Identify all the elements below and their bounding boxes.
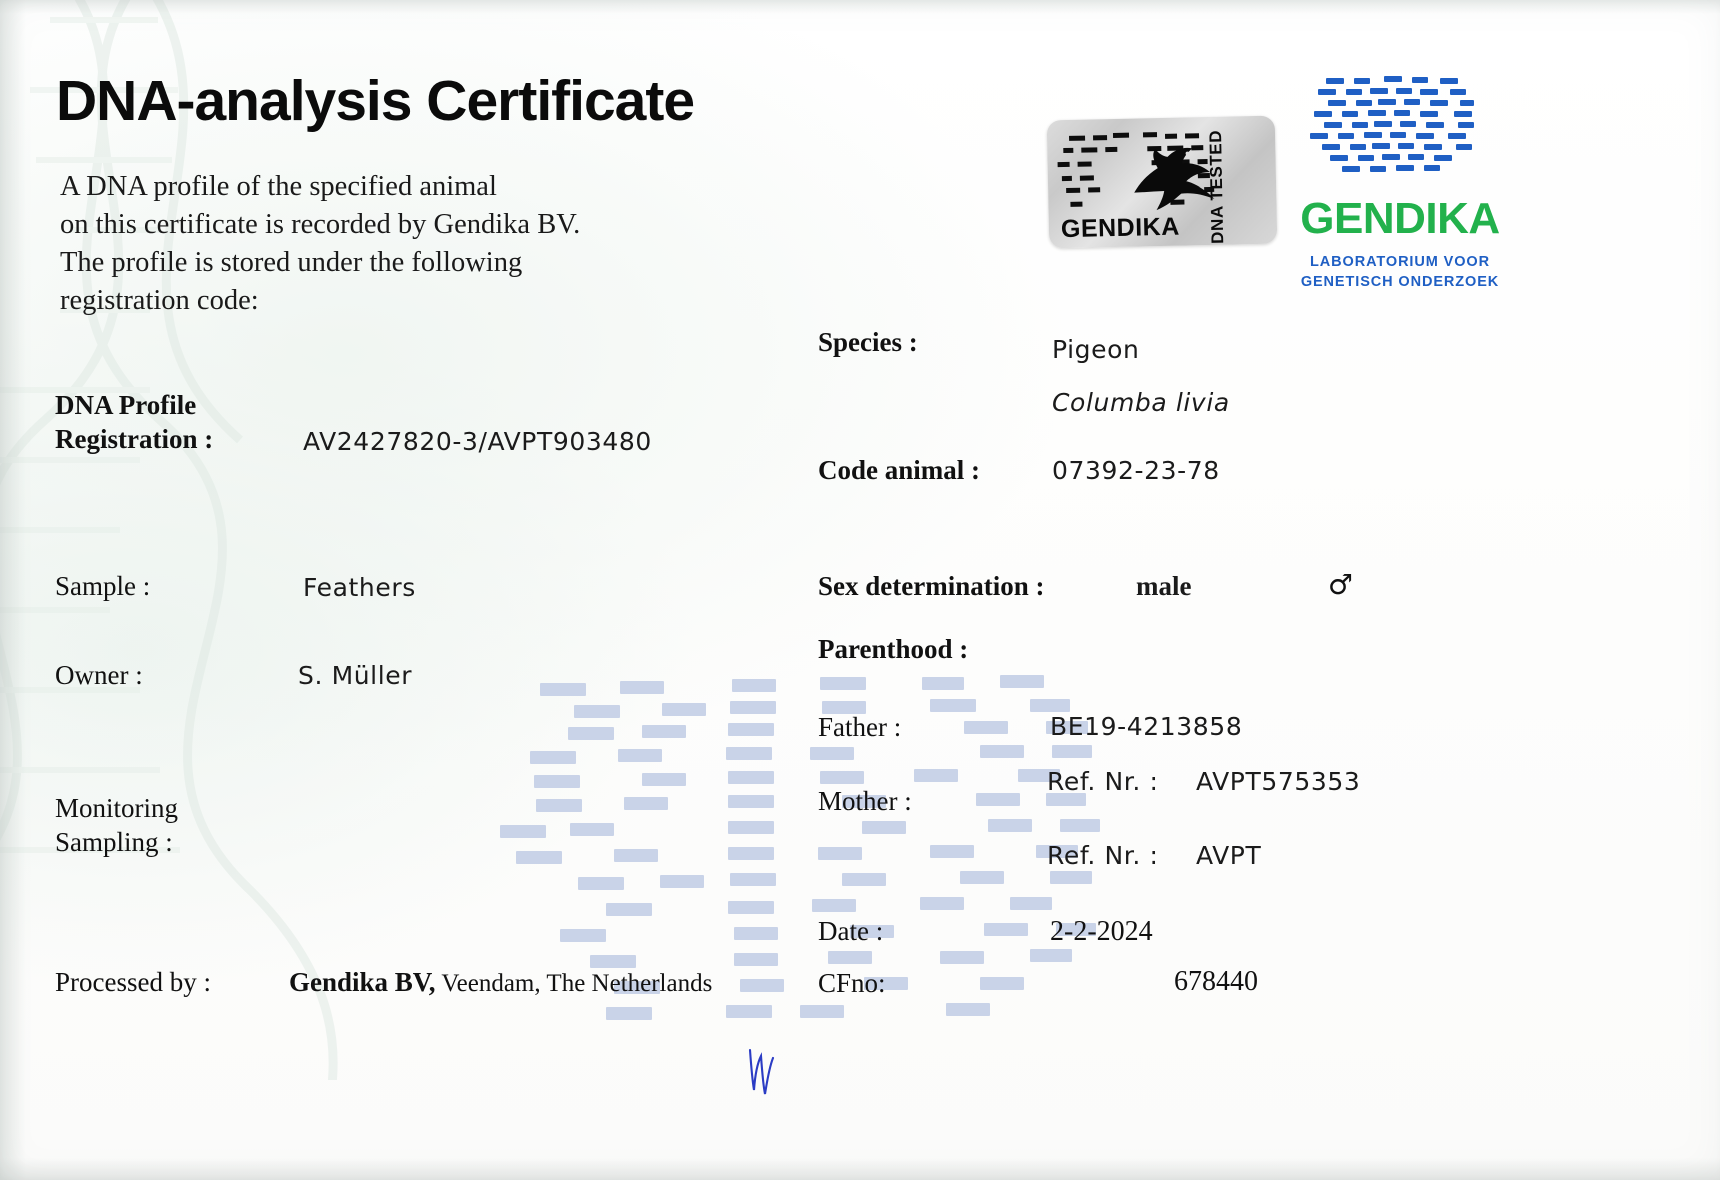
sex-determination-label: Sex determination : [818,571,1044,602]
monitoring-label-line2: Sampling : [55,827,173,858]
gendika-logo: GENDIKA LABORATORIUM VOOR GENETISCH ONDE… [1300,74,1500,294]
sex-determination-value: male [1136,571,1191,602]
intro-line-4: registration code: [60,282,580,320]
father-ref-value: AVPT575353 [1196,767,1360,796]
page-title: DNA-analysis Certificate [56,68,694,134]
scan-edge-left [0,0,26,1180]
scan-edge-top [0,0,1720,14]
code-animal-label: Code animal : [818,455,980,486]
mother-ref-value: AVPT [1196,841,1261,870]
sample-label: Sample : [55,571,150,602]
male-symbol-icon: ♂ [1328,568,1353,601]
date-label: Date : [818,916,883,947]
species-label: Species : [818,327,918,358]
father-value: BE19-4213858 [1050,712,1242,741]
cfno-value: 678440 [1174,966,1258,998]
dna-tested-sticker: GENDIKA DNA TESTED [1047,116,1278,249]
mother-label: Mother : [818,786,912,817]
dna-profile-label-line2: Registration : [55,424,213,455]
signature-pen-mark [742,1046,782,1098]
intro-line-3: The profile is stored under the followin… [60,244,580,282]
gendika-g-mark-icon [1308,74,1492,192]
owner-label: Owner : [55,660,143,691]
sample-value: Feathers [303,573,416,602]
father-ref-label: Ref. Nr. : [1047,767,1159,796]
owner-value: S. Müller [298,661,412,690]
monitoring-label-line1: Monitoring [55,793,178,824]
processed-by-company: Gendika BV, [289,967,436,997]
sticker-brand-text: GENDIKA [1061,213,1180,244]
dna-helix-watermark [0,0,470,1080]
intro-line-2: on this certificate is recorded by Gendi… [60,206,580,244]
gendika-subtitle-line1: LABORATORIUM VOOR [1300,254,1500,270]
processed-by-label: Processed by : [55,967,211,998]
scan-edge-bottom [0,1158,1720,1180]
certificate-page: DNA-analysis Certificate A DNA profile o… [0,0,1720,1180]
date-value: 2-2-2024 [1050,916,1153,948]
cfno-label: CFno: [818,968,886,999]
dna-profile-registration-value: AV2427820-3/AVPT903480 [303,427,652,456]
species-latin-value: Columba livia [1052,388,1230,417]
processed-by-location: Veendam, The Netherlands [436,970,713,997]
dna-profile-label-line1: DNA Profile [55,390,196,421]
processed-by-value: Gendika BV, Veendam, The Netherlands [289,967,712,998]
parenthood-label: Parenthood : [818,634,968,665]
code-animal-value: 07392-23-78 [1052,456,1220,485]
father-label: Father : [818,712,901,743]
gendika-subtitle-line2: GENETISCH ONDERZOEK [1300,274,1500,290]
intro-paragraph: A DNA profile of the specified animal on… [60,168,580,320]
species-value: Pigeon [1052,335,1139,364]
sticker-tagline-text: DNA TESTED [1206,130,1228,244]
intro-line-1: A DNA profile of the specified animal [60,168,580,206]
gendika-wordmark: GENDIKA [1300,194,1500,244]
mother-ref-label: Ref. Nr. : [1047,841,1159,870]
